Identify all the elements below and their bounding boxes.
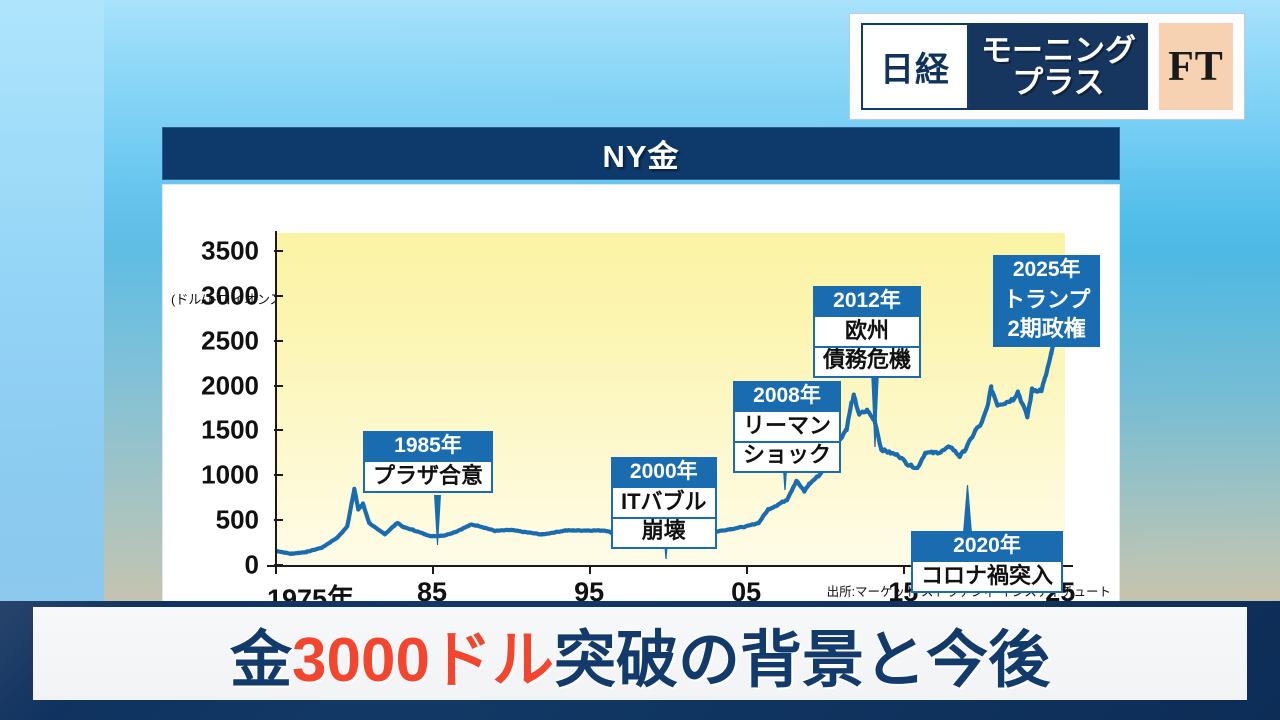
chart-title-bar: NY金 xyxy=(162,127,1120,180)
callout-2025: 2025年 トランプ 2期政権 xyxy=(993,255,1100,347)
callout-2012-body-l2: 債務危機 xyxy=(813,348,921,378)
program-name-box: モーニング プラス xyxy=(969,23,1148,110)
chart-panel: NY金 (ドル/トロイオンス) 050010001500200025003000… xyxy=(162,127,1120,605)
y-tick-label: 500 xyxy=(216,505,259,536)
nikkei-logo-text: 日経 xyxy=(880,42,950,91)
callout-2012-body-l1: 欧州 xyxy=(813,317,921,349)
callout-1985-body: プラザ合意 xyxy=(363,462,493,494)
y-axis-labels: 0500100015002000250030003500 xyxy=(163,185,275,606)
x-tick-mark xyxy=(275,565,277,574)
headline-part1: 金 xyxy=(230,609,292,699)
y-tick-label: 2000 xyxy=(201,370,259,401)
callout-1985-year: 1985年 xyxy=(363,431,493,462)
x-tick-mark xyxy=(903,565,905,574)
y-tick-mark xyxy=(274,474,283,476)
y-tick-mark xyxy=(274,519,283,521)
callout-2008-year: 2008年 xyxy=(733,381,841,412)
y-tick-mark xyxy=(274,564,283,566)
callout-1985: 1985年 プラザ合意 xyxy=(363,431,493,493)
ft-logo-text: FT xyxy=(1168,43,1224,91)
y-axis-line xyxy=(275,231,277,567)
callout-2000-year: 2000年 xyxy=(611,457,717,488)
chart-area: (ドル/トロイオンス) 0500100015002000250030003500… xyxy=(163,185,1121,606)
x-tick-mark xyxy=(746,565,748,574)
y-tick-label: 0 xyxy=(245,550,259,581)
program-name-line1: モーニング xyxy=(981,35,1136,67)
x-tick-mark xyxy=(589,565,591,574)
y-tick-label: 1500 xyxy=(201,415,259,446)
headline: 金 3000ドル 突破の背景と今後 xyxy=(33,607,1247,700)
y-tick-mark xyxy=(274,295,283,297)
y-tick-mark xyxy=(274,429,283,431)
y-tick-mark xyxy=(274,250,283,252)
callout-2020-body: コロナ禍突入 xyxy=(911,562,1063,594)
y-tick-mark xyxy=(274,385,283,387)
callout-2020: 2020年 コロナ禍突入 xyxy=(911,531,1063,593)
callout-2025-body-l2: 2期政権 xyxy=(993,317,1100,347)
broadcast-graphic: 日経 モーニング プラス FT NY金 (ドル/トロイオンス) 05001000… xyxy=(0,0,1280,720)
callout-2025-body-l1: トランプ xyxy=(993,286,1100,318)
chart-body: (ドル/トロイオンス) 0500100015002000250030003500… xyxy=(162,184,1120,605)
page-title: NY金 xyxy=(602,131,679,176)
callout-2008: 2008年 リーマン ショック xyxy=(733,381,841,473)
callout-2000-body-l2: 崩壊 xyxy=(611,519,717,549)
x-tick-mark xyxy=(432,565,434,574)
callout-2008-body-l2: ショック xyxy=(733,443,841,473)
callout-2000: 2000年 ITバブル 崩壊 xyxy=(611,457,717,549)
callout-2012-year: 2012年 xyxy=(813,286,921,317)
y-tick-mark xyxy=(274,340,283,342)
callout-2008-body-l1: リーマン xyxy=(733,412,841,444)
y-tick-label: 1000 xyxy=(201,460,259,491)
program-logo: 日経 モーニング プラス FT xyxy=(849,13,1245,120)
headline-part2: 3000ドル xyxy=(292,609,554,699)
callout-2025-year: 2025年 xyxy=(993,255,1100,286)
y-tick-label: 3000 xyxy=(201,280,259,311)
nikkei-logo-box: 日経 xyxy=(861,23,969,110)
y-tick-label: 3500 xyxy=(201,235,259,266)
headline-part3: 突破の背景と今後 xyxy=(554,609,1050,699)
y-tick-label: 2500 xyxy=(201,325,259,356)
ft-logo-box: FT xyxy=(1159,23,1233,110)
program-name-line2: プラス xyxy=(1012,67,1104,99)
callout-2000-body-l1: ITバブル xyxy=(611,488,717,520)
callout-2012: 2012年 欧州 債務危機 xyxy=(813,286,921,378)
callout-2020-year: 2020年 xyxy=(911,531,1063,562)
